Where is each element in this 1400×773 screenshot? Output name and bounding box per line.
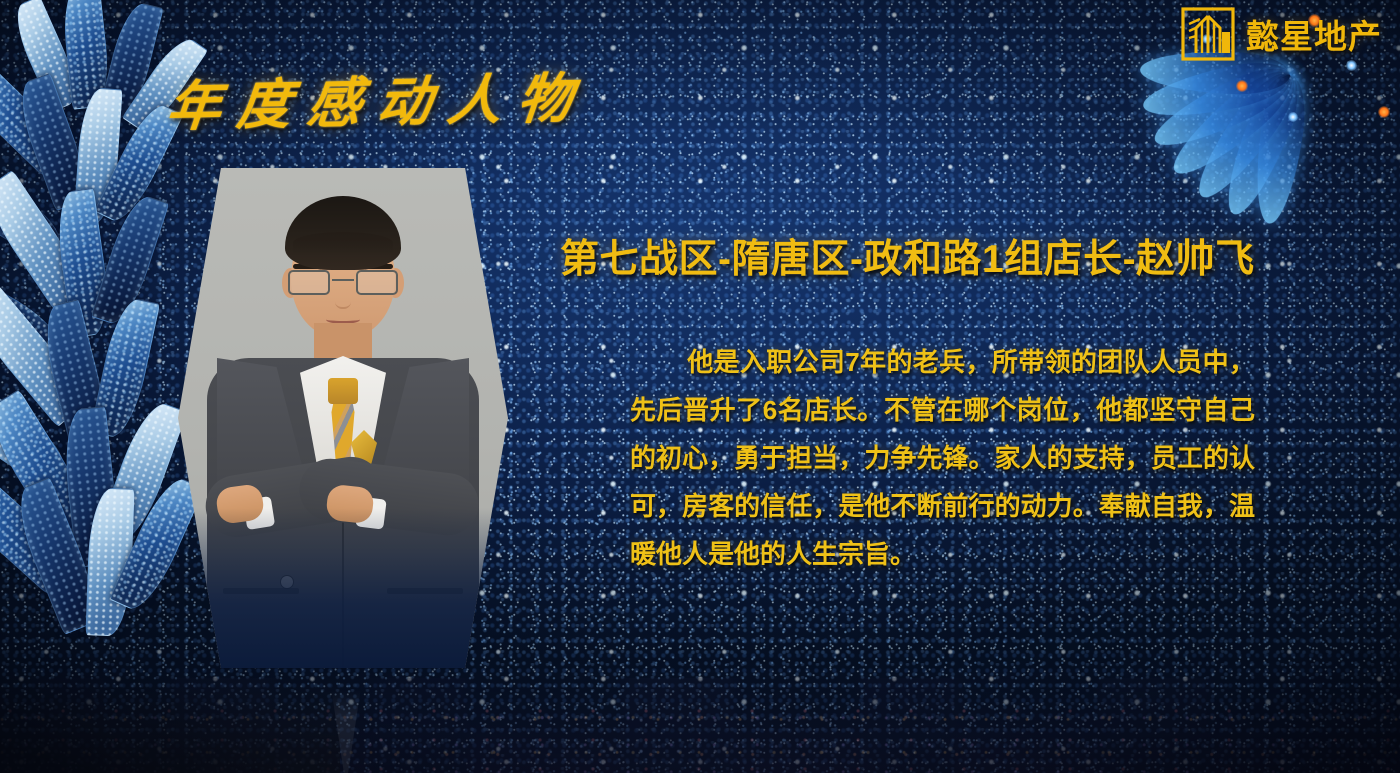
brand-name: 懿星地产 xyxy=(1246,10,1382,58)
lens-right xyxy=(356,270,398,295)
page-title: 年度感动人物 xyxy=(163,54,592,142)
portrait-photo xyxy=(178,168,508,668)
glasses-bridge xyxy=(332,279,354,281)
portrait-bottom-fade xyxy=(178,508,508,668)
nose xyxy=(335,293,351,309)
necktie-knot xyxy=(328,378,358,404)
award-headline: 第七战区-隋唐区-政和路1组店长-赵帅飞 xyxy=(560,228,1360,284)
award-poster: 年度感动人物 懿星地产 xyxy=(0,0,1400,773)
lens-left xyxy=(288,270,330,295)
brand-logo[interactable]: 懿星地产 xyxy=(1180,6,1382,62)
award-citation: 他是入职公司7年的老兵，所带领的团队人员中，先后晋升了6名店长。不管在哪个岗位，… xyxy=(630,338,1255,578)
portrait-frame xyxy=(178,168,508,668)
house-square-logo-icon xyxy=(1180,6,1236,62)
hair xyxy=(285,196,401,270)
